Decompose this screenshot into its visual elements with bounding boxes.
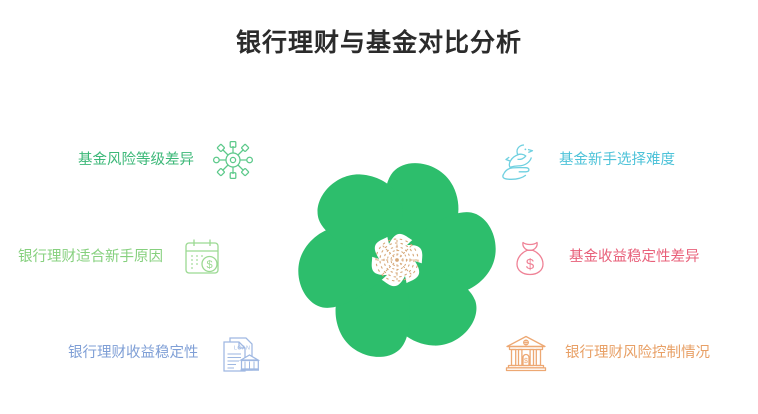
pinwheel-flower-graphic [289,152,505,368]
money-bag-icon: $ [507,234,553,280]
item-fund-yield-stability[interactable]: $ 基金收益稳定性差异 [507,229,700,285]
dove-on-hand-icon [497,137,543,183]
svg-text:$: $ [206,259,212,271]
item-bank-risk-control[interactable]: $ 银行理财风险控制情况 [503,325,710,381]
network-hub-icon [210,137,256,183]
page-title: 银行理财与基金对比分析 [0,26,758,60]
item-bank-newbie-reason-label: 银行理财适合新手原因 [18,247,163,267]
item-fund-risk-level-label: 基金风险等级差异 [78,150,194,170]
item-fund-yield-stability-label: 基金收益稳定性差异 [569,247,700,267]
svg-text:$: $ [524,358,528,365]
item-bank-newbie-reason[interactable]: 银行理财适合新手原因 $ [18,229,225,285]
bank-building-icon: $ [503,330,549,376]
item-bank-yield-stability[interactable]: 银行理财收益稳定性 LOAN [68,325,261,381]
loan-document-bank-icon: LOAN [215,330,261,376]
item-bank-risk-control-label: 银行理财风险控制情况 [565,343,710,363]
item-bank-yield-stability-label: 银行理财收益稳定性 [68,343,199,363]
item-fund-risk-level[interactable]: 基金风险等级差异 [78,132,256,188]
slide-canvas: 银行理财与基金对比分析 [0,0,758,414]
item-fund-newbie-difficulty[interactable]: 基金新手选择难度 [497,132,675,188]
item-fund-newbie-difficulty-label: 基金新手选择难度 [559,150,675,170]
svg-text:LOAN: LOAN [234,346,250,352]
svg-text:$: $ [526,256,535,273]
calendar-dollar-icon: $ [179,234,225,280]
